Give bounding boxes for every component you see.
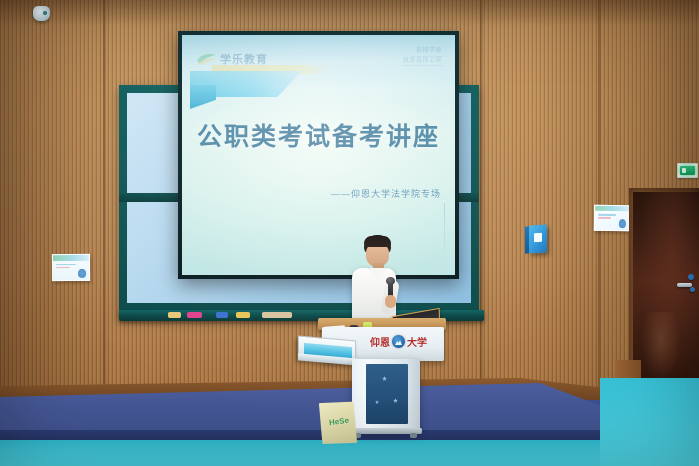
chalk-tray-item[interactable] [262, 312, 292, 318]
wall-seam [480, 0, 483, 404]
star-icon [393, 398, 398, 403]
microphone-head-icon [386, 277, 395, 285]
slide-subtitle: ——仰恩大学法学院专场 [331, 187, 441, 200]
alarm-box-icon[interactable] [529, 225, 547, 254]
exit-sign-icon [677, 163, 698, 178]
floor-foreground [0, 440, 699, 466]
exit-door[interactable] [633, 192, 699, 404]
chalk-tray-item[interactable] [216, 312, 228, 318]
wall-shadow-left [0, 0, 120, 404]
podium-front-panel [366, 364, 408, 424]
chalk-tray-item[interactable] [187, 312, 202, 318]
door-lock-upper-icon[interactable] [688, 274, 694, 280]
ceiling-fixture-icon [33, 6, 50, 21]
wall-seam [103, 0, 106, 404]
wall-seam [598, 0, 601, 404]
university-seal-icon [392, 335, 405, 348]
speaker-fringe [364, 236, 391, 247]
floor-right [600, 378, 699, 466]
door-lock-lower-icon[interactable] [690, 287, 695, 292]
chalk-tray-item[interactable] [236, 312, 250, 318]
chalk-tray-item[interactable] [168, 312, 181, 318]
notice-poster-left [52, 254, 90, 281]
notice-poster-right [594, 205, 630, 232]
lecture-hall-photo: 学乐教育 选择学易 就是选择上岸 公职类考试备考讲座 ——仰恩大学法学院专场 仰… [0, 0, 699, 466]
star-icon [382, 376, 387, 381]
door-handle-icon[interactable] [677, 283, 692, 287]
tagline-line-2: 就是选择上岸 [402, 57, 443, 67]
slide-brand-text: 学乐教育 [220, 51, 268, 67]
tagline-line-1: 选择学易 [415, 47, 443, 57]
slide-tagline: 选择学易 就是选择上岸 [347, 47, 443, 66]
podium-brand-right: 大学 [407, 334, 427, 349]
podium-brand: 仰恩 大学 [370, 334, 448, 349]
star-icon [375, 400, 379, 404]
slide-title: 公职类考试备考讲座 [182, 117, 455, 153]
slide-accent-block [190, 85, 216, 109]
podium-caster [410, 433, 417, 438]
brand-leaf-icon [196, 52, 218, 66]
projected-slide: 学乐教育 选择学易 就是选择上岸 公职类考试备考讲座 ——仰恩大学法学院专场 [182, 35, 455, 275]
podium-brand-left: 仰恩 [370, 334, 390, 349]
speaker-hand [385, 295, 396, 308]
slide-rule [444, 203, 445, 265]
